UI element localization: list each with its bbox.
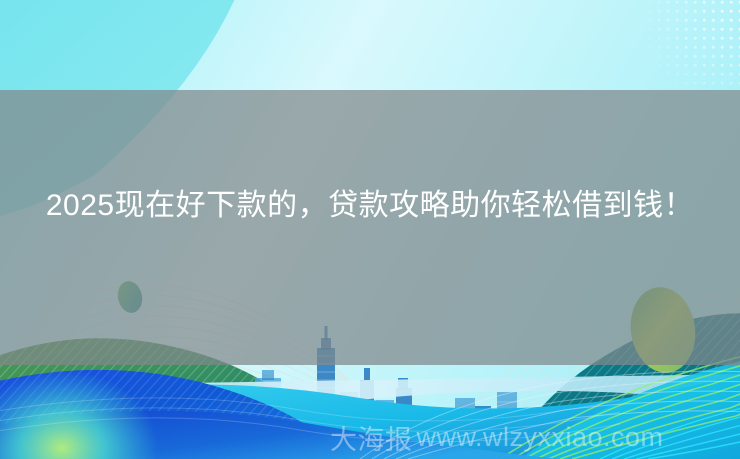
poster-canvas: 2025现在好下款的，贷款攻略助你轻松借到钱！ 大海报 www.wlzyxxia… [0, 0, 740, 459]
watermark-url: www.wlzyxxiao.com [417, 422, 664, 453]
page-title: 2025现在好下款的，贷款攻略助你轻松借到钱！ [0, 183, 740, 228]
watermark: 大海报 www.wlzyxxiao.com [330, 418, 740, 456]
blue-wave-layer [0, 0, 740, 459]
watermark-brand: 大海报 [330, 418, 413, 457]
